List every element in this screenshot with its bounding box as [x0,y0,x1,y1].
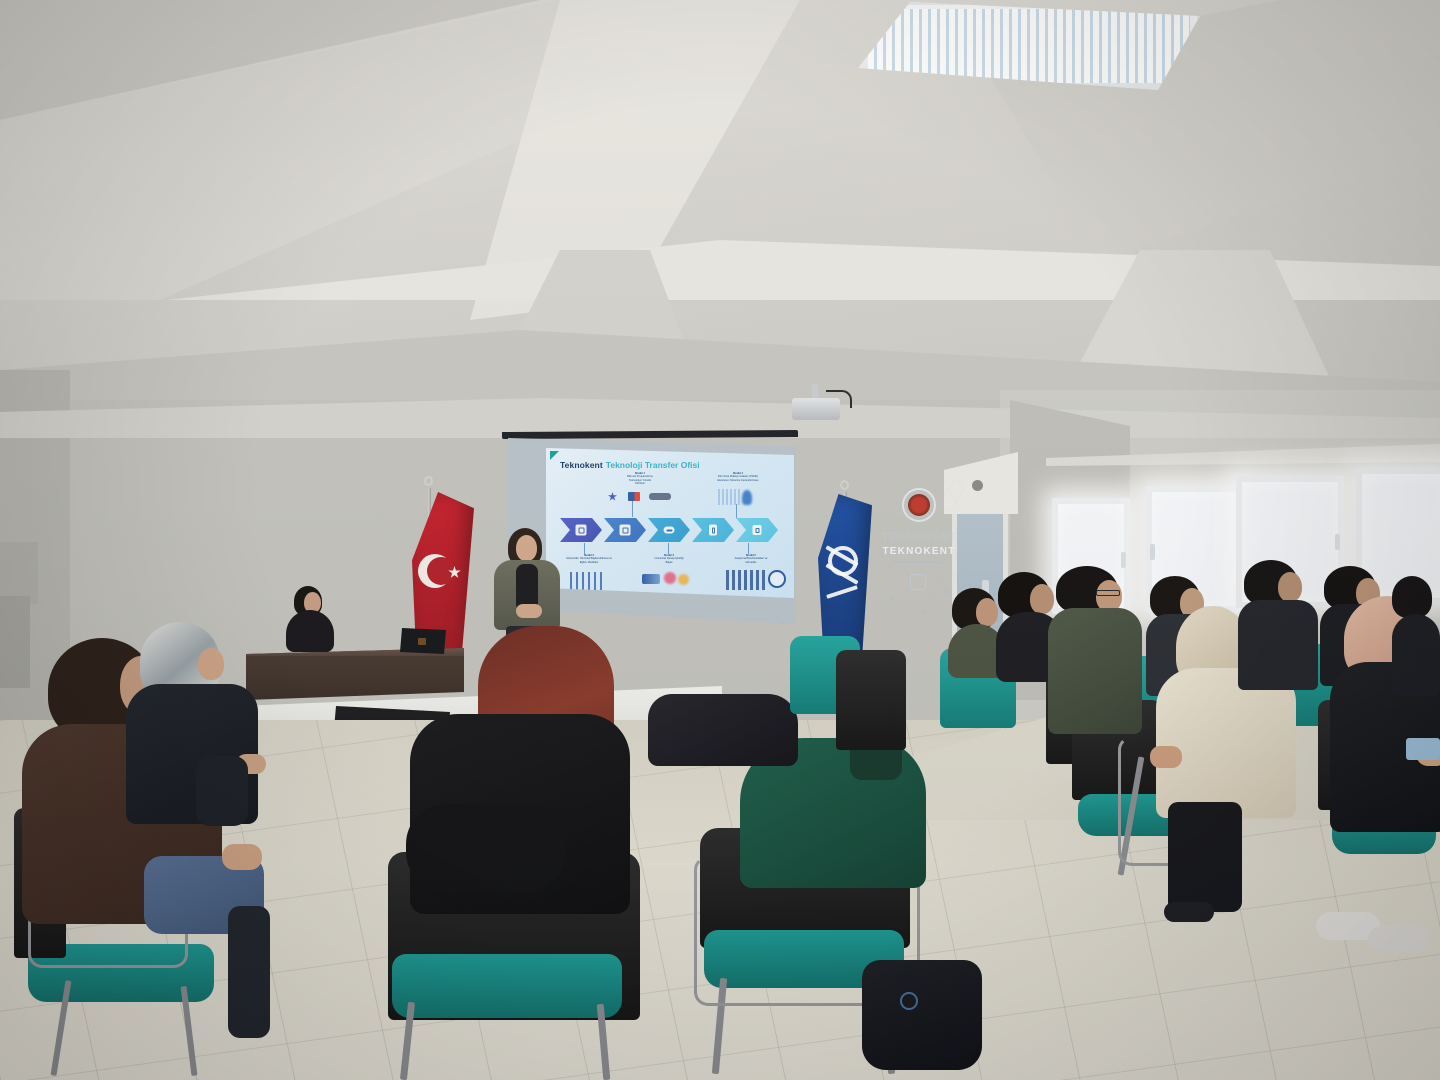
slide-group-module1: Modül 1 Bilimsel Projelendirme Teknoloji… [594,472,686,486]
backpack-logo-icon [900,992,918,1010]
module5-line2: Hizmetler [714,561,788,564]
audience-dark-jacket-table [648,694,798,774]
dark-jacket-draped [648,694,798,766]
module3-illustration-pink-icon [664,572,676,584]
audience-right-7-hair [1392,576,1432,618]
seated-host-body [286,610,334,652]
presentation-slide: TeknokentTeknoloji Transfer Ofisi Modül … [546,448,794,598]
audience-right-7 [1392,576,1440,696]
chart-icon [753,525,762,535]
edit-square-icon [620,525,631,536]
banner-badge-icon [910,574,926,590]
slide-caption-module5: Modül 5 Araştırma Bina Destekleri ve Hiz… [714,554,788,564]
module4-illustration-icon [718,489,740,505]
window-handle[interactable] [1335,534,1340,550]
module4-line2: Ekosistem Sürecine Kazandırılması [688,479,788,482]
beige-coat-hand [1150,746,1182,768]
seminar-room-photo: TeknokentTeknoloji Transfer Ofisi Modül … [0,0,1440,1080]
partner-logo-3-icon [649,493,671,500]
crescent-icon [418,554,452,588]
process-step-3 [648,518,690,542]
slide-title-brand: Teknokent [560,460,603,470]
banner-title: TEKNOKENT [874,546,964,557]
turkish-flag-finial-icon [424,476,433,486]
audience-right-1-head [976,598,998,626]
module5-illustration-icon [726,570,766,590]
module5-seal-icon [768,570,786,588]
seal-inner [908,494,930,516]
slide-title: TeknokentTeknoloji Transfer Ofisi [560,455,700,473]
institution-flag-finial-icon [840,480,849,490]
presenter-hands [516,604,542,618]
wall-bracket [0,596,30,688]
banner-ghost-text: TEKNOKENT [874,530,964,544]
audience-left-3-torso [196,756,248,826]
beige-coat-trousers [1168,802,1242,912]
audience-left-1-leg [228,906,270,1038]
connector-tick-bottom-3 [748,543,749,554]
audience-right-3 [1048,566,1144,736]
module4-figure-icon [742,490,752,505]
slide-caption-module3: Modül 3 Üniversite Sanayi İşbirliği Bilg… [634,554,704,564]
partner-logo-1-icon [608,492,617,501]
window-handle[interactable] [1150,544,1155,560]
wall-mounted-panel [0,542,38,604]
emblem-stripe-3 [826,585,858,599]
audience-right-3-glasses-icon [1096,590,1120,596]
document-icon [709,525,717,536]
wall-sensor-icon [972,480,983,491]
slide-group-module4: Modül 4 Fikri Sinai Mülkiyet Hakları (FS… [688,472,788,482]
audience-right-7-body [1392,614,1440,696]
audience-center-redhair-fur-sleeve [406,804,566,892]
beige-coat-body [1156,668,1296,818]
slide-title-rest: Teknoloji Transfer Ofisi [606,460,700,470]
presenter-head [516,535,537,561]
banner-subtitle: Teknoloji Geliştirme Bölgesi Yönetim A.Ş… [874,560,964,564]
process-step-5 [736,518,778,542]
audience-left-2-face [198,648,224,680]
audience-right-5-body [1238,600,1318,690]
chair-back-right-dark-1[interactable] [836,650,906,750]
audience-left-3 [196,756,248,886]
module3-line2: Bilgisi [634,561,704,564]
audience-right-3-olive-coat [1048,608,1142,734]
clipboard-check-icon [576,525,587,536]
partner-logo-2-icon [628,492,640,501]
seated-host [284,586,338,652]
white-sneaker-right-2 [1368,926,1430,952]
connector-tick-bottom-2 [668,543,669,554]
pink-hijab-phone-icon[interactable] [1406,738,1440,760]
module3-illustration-icon [642,574,660,584]
projector-cable [826,390,852,408]
beige-coat-shoe [1164,902,1214,922]
process-step-4 [692,518,734,542]
audience-center-redhair [400,626,650,926]
audience-right-5 [1238,560,1320,690]
process-step-1 [560,518,602,542]
chair-seat-center-1[interactable] [392,954,622,1018]
backpack-on-floor[interactable] [862,960,982,1070]
process-chevron-row [560,518,778,542]
module1-line3: Fikirlerin [594,482,686,485]
screen-roller-bar[interactable] [502,430,798,439]
module2-illustration-icon [570,572,606,590]
connector-tick-top-left [632,501,633,517]
slide-accent-corner-icon [550,451,559,460]
process-step-2 [604,518,646,542]
university-seal-icon [902,488,936,522]
module3-illustration-yellow-icon [678,574,689,585]
capsule-icon [664,527,675,534]
connector-tick-top-right [736,504,737,518]
connector-tick-bottom-1 [584,543,585,554]
audience-right-5-head [1278,572,1302,602]
